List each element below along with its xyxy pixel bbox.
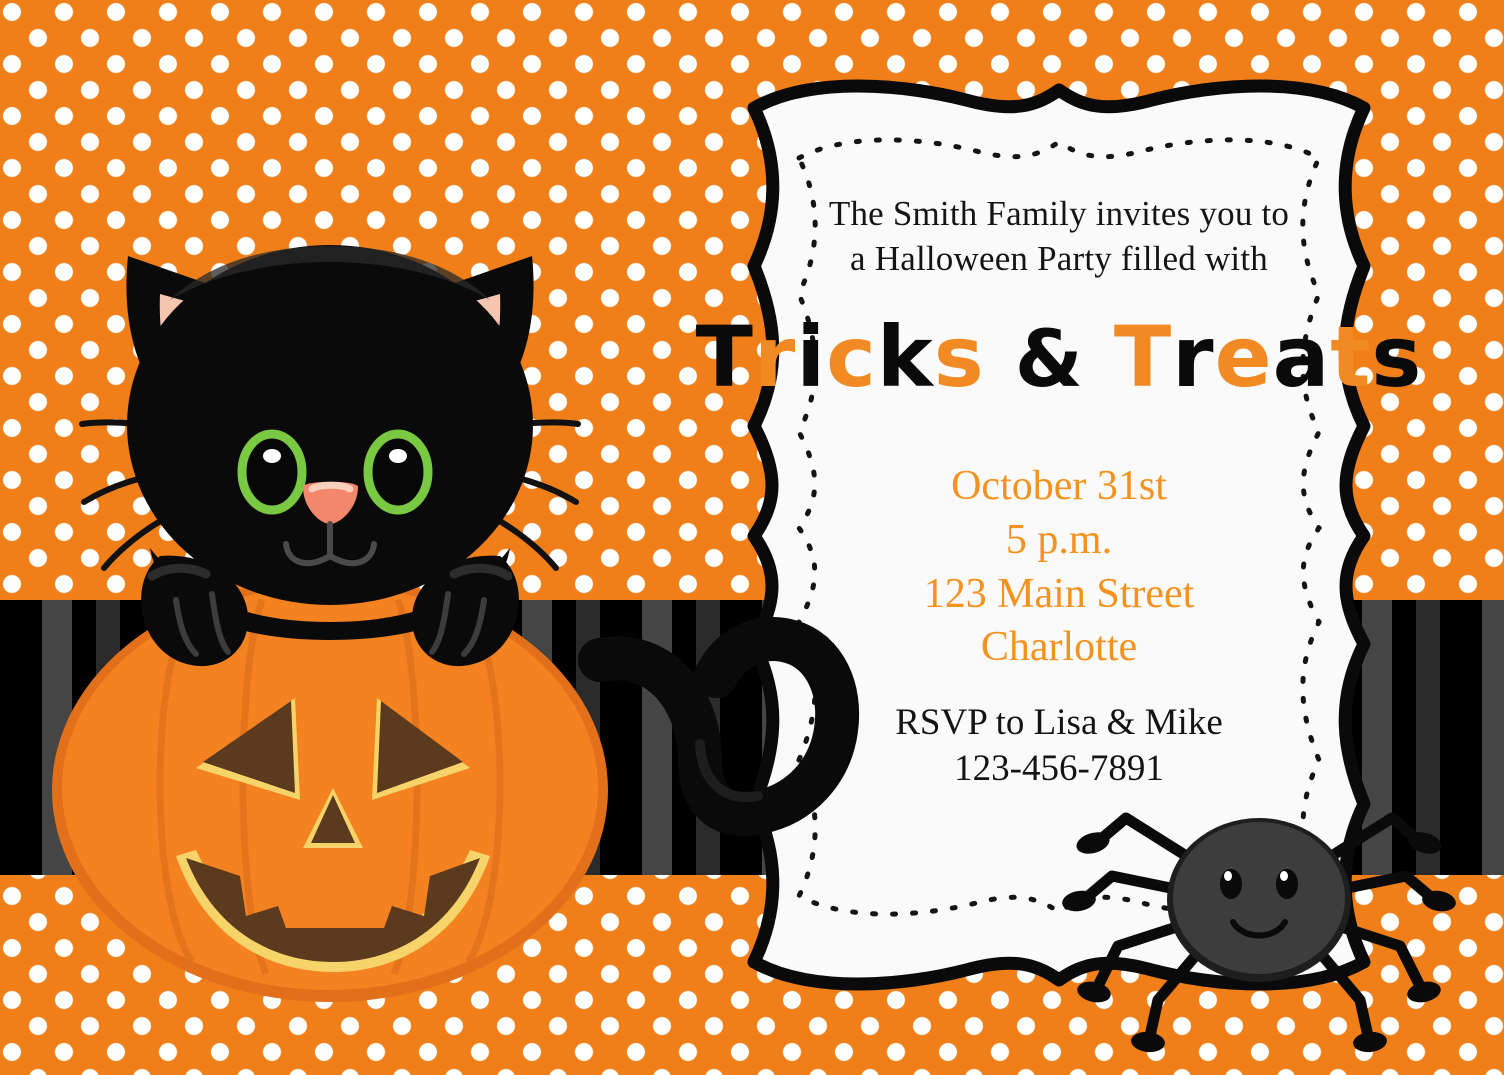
invitation-canvas: The Smith Family invites you to a Hallow…: [0, 0, 1504, 1075]
invitation-card: [636, 70, 1482, 1000]
card-frame-outline: [754, 86, 1364, 984]
